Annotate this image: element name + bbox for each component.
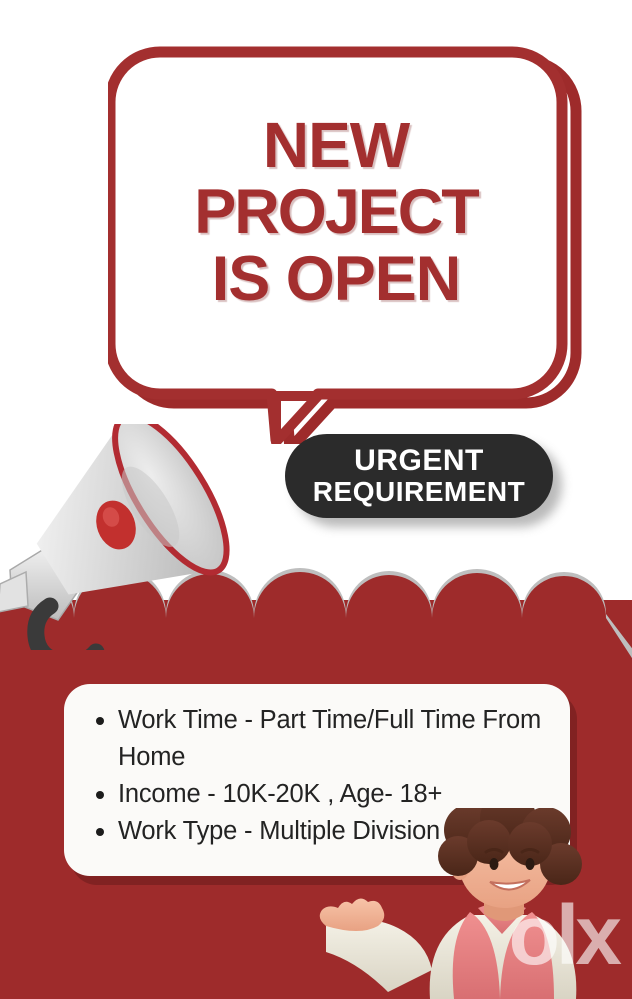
status-badge-line-1: URGENT [354, 445, 484, 477]
job-advertisement-flyer: NEW PROJECT IS OPEN [0, 0, 632, 999]
speech-bubble: NEW PROJECT IS OPEN [108, 44, 598, 444]
olx-watermark: olx [509, 893, 618, 977]
status-badge: URGENT REQUIREMENT [285, 434, 553, 518]
status-badge-line-2: REQUIREMENT [313, 477, 525, 507]
speech-bubble-icon [108, 44, 598, 444]
megaphone-icon [0, 424, 234, 650]
list-item: Work Time - Part Time/Full Time From Hom… [84, 702, 550, 776]
